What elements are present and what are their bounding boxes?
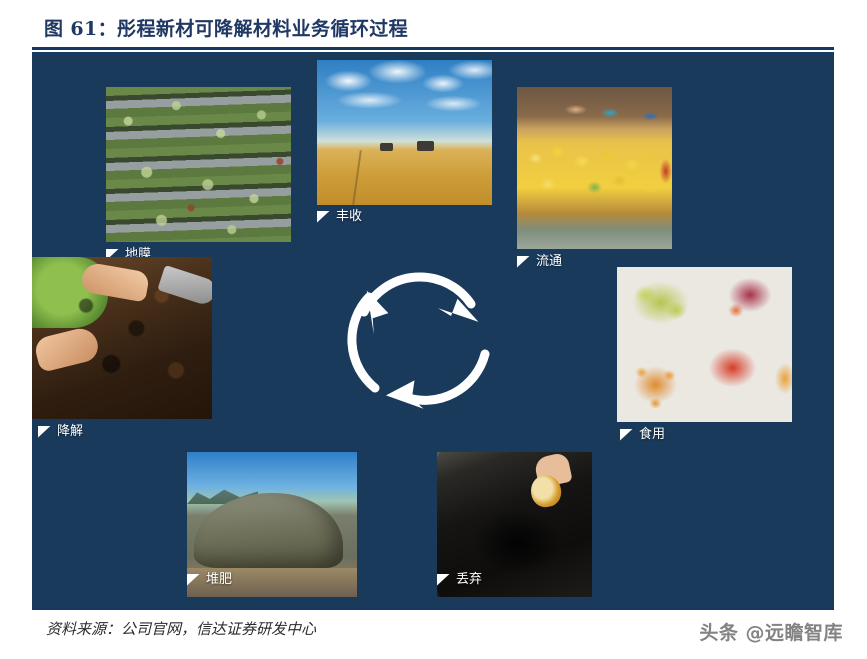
mulch-crop-texture — [106, 87, 291, 242]
flag-marker-icon — [517, 256, 530, 268]
photo-food — [617, 267, 792, 422]
combine-harvester-icon — [380, 143, 393, 151]
caption-discard: 丢弃 — [437, 573, 482, 586]
flag-marker-icon — [38, 426, 51, 438]
caption-degrade: 降解 — [38, 425, 83, 438]
page-title: 图 61：彤程新材可降解材料业务循环过程 — [44, 14, 834, 41]
flag-marker-icon — [437, 574, 450, 586]
watermark: 头条 @远瞻智库 — [699, 618, 843, 645]
recycle-arrows-icon — [328, 248, 514, 434]
harvest-clouds — [317, 60, 492, 144]
market-produce-texture — [517, 87, 672, 249]
caption-market: 流通 — [517, 255, 562, 268]
flag-marker-icon — [317, 211, 330, 223]
caption-compost: 堆肥 — [187, 573, 232, 586]
caption-food: 食用 — [620, 428, 665, 441]
combine-harvester-icon — [417, 141, 434, 151]
field-track — [352, 150, 362, 205]
photo-harvest — [317, 60, 492, 205]
source-note: 资料来源：公司官网，信达证券研发中心 — [46, 618, 316, 639]
figure-title-text: 图 61：彤程新材可降解材料业务循环过程 — [44, 14, 834, 41]
title-divider — [32, 47, 834, 50]
figure-panel: 地膜 丰收 流通 食用 — [32, 52, 834, 607]
footer-divider — [32, 607, 834, 610]
caption-compost-label: 堆肥 — [206, 573, 232, 586]
caption-food-label: 食用 — [639, 428, 665, 441]
flag-marker-icon — [620, 429, 633, 441]
photo-market — [517, 87, 672, 249]
packaged-fruit-texture — [617, 267, 792, 422]
caption-harvest-label: 丰收 — [336, 210, 362, 223]
photo-degrade — [32, 257, 212, 419]
caption-market-label: 流通 — [536, 255, 562, 268]
caption-discard-label: 丢弃 — [456, 573, 482, 586]
photo-mulch — [106, 87, 291, 242]
recycle-cycle-graphic — [328, 248, 514, 434]
caption-degrade-label: 降解 — [57, 425, 83, 438]
caption-harvest: 丰收 — [317, 210, 362, 223]
flag-marker-icon — [187, 574, 200, 586]
figure-page: 图 61：彤程新材可降解材料业务循环过程 地膜 丰收 流通 — [0, 0, 867, 659]
